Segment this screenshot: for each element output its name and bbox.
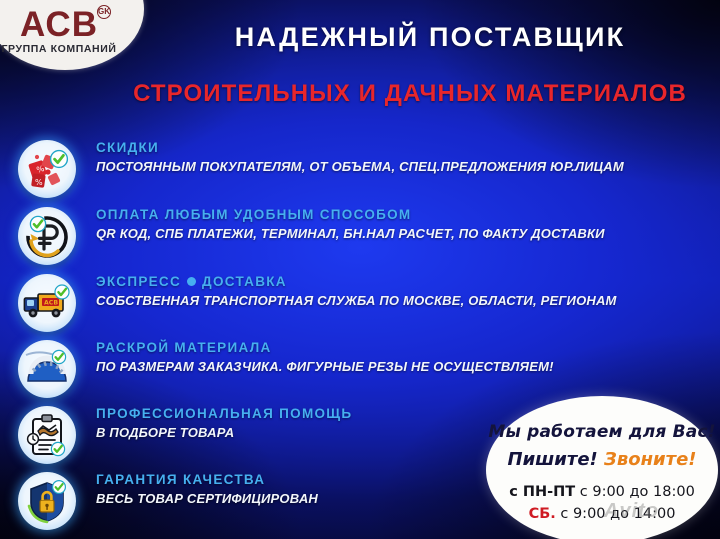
bullet-dot-icon [187,277,196,286]
company-logo-badge: АСВ GK ГРУППА КОМПАНИЙ [0,0,144,70]
feature-title-part-a: ЭКСПРЕСС [96,274,181,289]
feature-text-discounts: СКИДКИ ПОСТОЯННЫМ ПОКУПАТЕЛЯМ, ОТ ОБЪЕМА… [96,140,716,174]
hours-saturday-label: СБ. [529,506,556,522]
logo-wordmark-text: АСВ [20,5,98,44]
delivery-truck-icon: АСВ [18,274,76,332]
saw-blade-icon [18,340,76,398]
registered-mark-icon: GK [97,5,111,19]
feature-title: СКИДКИ [96,140,716,155]
clipboard-handshake-icon [18,406,76,464]
feature-title: ЭКСПРЕССДОСТАВКА [96,274,716,289]
discount-tags-icon: % % [18,140,76,198]
feature-subtitle: СОБСТВЕННАЯ ТРАНСПОРТНАЯ СЛУЖБА ПО МОСКВ… [96,293,716,308]
hours-weekday-value: с 9:00 до 18:00 [580,484,695,500]
hours-saturday-value: с 9:00 до 14:00 [560,506,675,522]
callout-write-label: Пишите! [508,449,598,470]
feature-title: ОПЛАТА ЛЮБЫМ УДОБНЫМ СПОСОБОМ [96,207,716,222]
ruble-payment-icon [18,207,76,265]
feature-subtitle: ПОСТОЯННЫМ ПОКУПАТЕЛЯМ, ОТ ОБЪЕМА, СПЕЦ.… [96,159,716,174]
feature-row-discounts: % % СКИДКИ ПОСТОЯННЫМ ПОКУПАТЕЛЯМ, ОТ ОБ… [10,136,710,198]
svg-text:АСВ: АСВ [44,300,58,307]
svg-text:%: % [35,178,43,187]
promo-poster: АСВ GK ГРУППА КОМПАНИЙ НАДЕЖНЫЙ ПОСТАВЩИ… [0,0,720,539]
feature-subtitle: QR КОД, СПБ ПЛАТЕЖИ, ТЕРМИНАЛ, БН.НАЛ РА… [96,226,716,241]
feature-row-payment: ОПЛАТА ЛЮБЫМ УДОБНЫМ СПОСОБОМ QR КОД, СП… [10,203,710,265]
feature-title-part-b: ДОСТАВКА [202,274,287,289]
callout-line-2: Пишите! Звоните! [486,449,718,470]
feature-text-payment: ОПЛАТА ЛЮБЫМ УДОБНЫМ СПОСОБОМ QR КОД, СП… [96,207,716,241]
feature-subtitle: ПО РАЗМЕРАМ ЗАКАЗЧИКА. ФИГУРНЫЕ РЕЗЫ НЕ … [96,359,716,374]
shield-lock-icon [18,472,76,530]
logo-wordmark: АСВ GK [20,8,98,42]
feature-title: РАСКРОЙ МАТЕРИАЛА [96,340,716,355]
hours-saturday: СБ. с 9:00 до 14:00 [486,506,718,522]
feature-text-cutting: РАСКРОЙ МАТЕРИАЛА ПО РАЗМЕРАМ ЗАКАЗЧИКА.… [96,340,716,374]
contact-hours-callout: Мы работаем для Вас! Пишите! Звоните! с … [486,396,718,539]
hours-weekday: с ПН-ПТ с 9:00 до 18:00 [486,484,718,500]
hours-weekday-label: с ПН-ПТ [509,484,575,500]
feature-row-cutting: РАСКРОЙ МАТЕРИАЛА ПО РАЗМЕРАМ ЗАКАЗЧИКА.… [10,336,710,398]
feature-row-delivery: АСВ ЭКСПРЕССДОСТАВКА СОБСТВЕННАЯ ТРАНСПО… [10,270,710,332]
callout-line-1: Мы работаем для Вас! [486,422,718,442]
company-logo: АСВ GK ГРУППА КОМПАНИЙ [0,8,124,68]
logo-tagline: ГРУППА КОМПАНИЙ [0,43,124,55]
poster-heading-secondary: СТРОИТЕЛЬНЫХ И ДАЧНЫХ МАТЕРИАЛОВ [110,80,710,108]
poster-heading-primary: НАДЕЖНЫЙ ПОСТАВЩИК [150,22,710,53]
callout-call-label: Звоните! [604,449,696,470]
feature-text-delivery: ЭКСПРЕССДОСТАВКА СОБСТВЕННАЯ ТРАНСПОРТНА… [96,274,716,308]
